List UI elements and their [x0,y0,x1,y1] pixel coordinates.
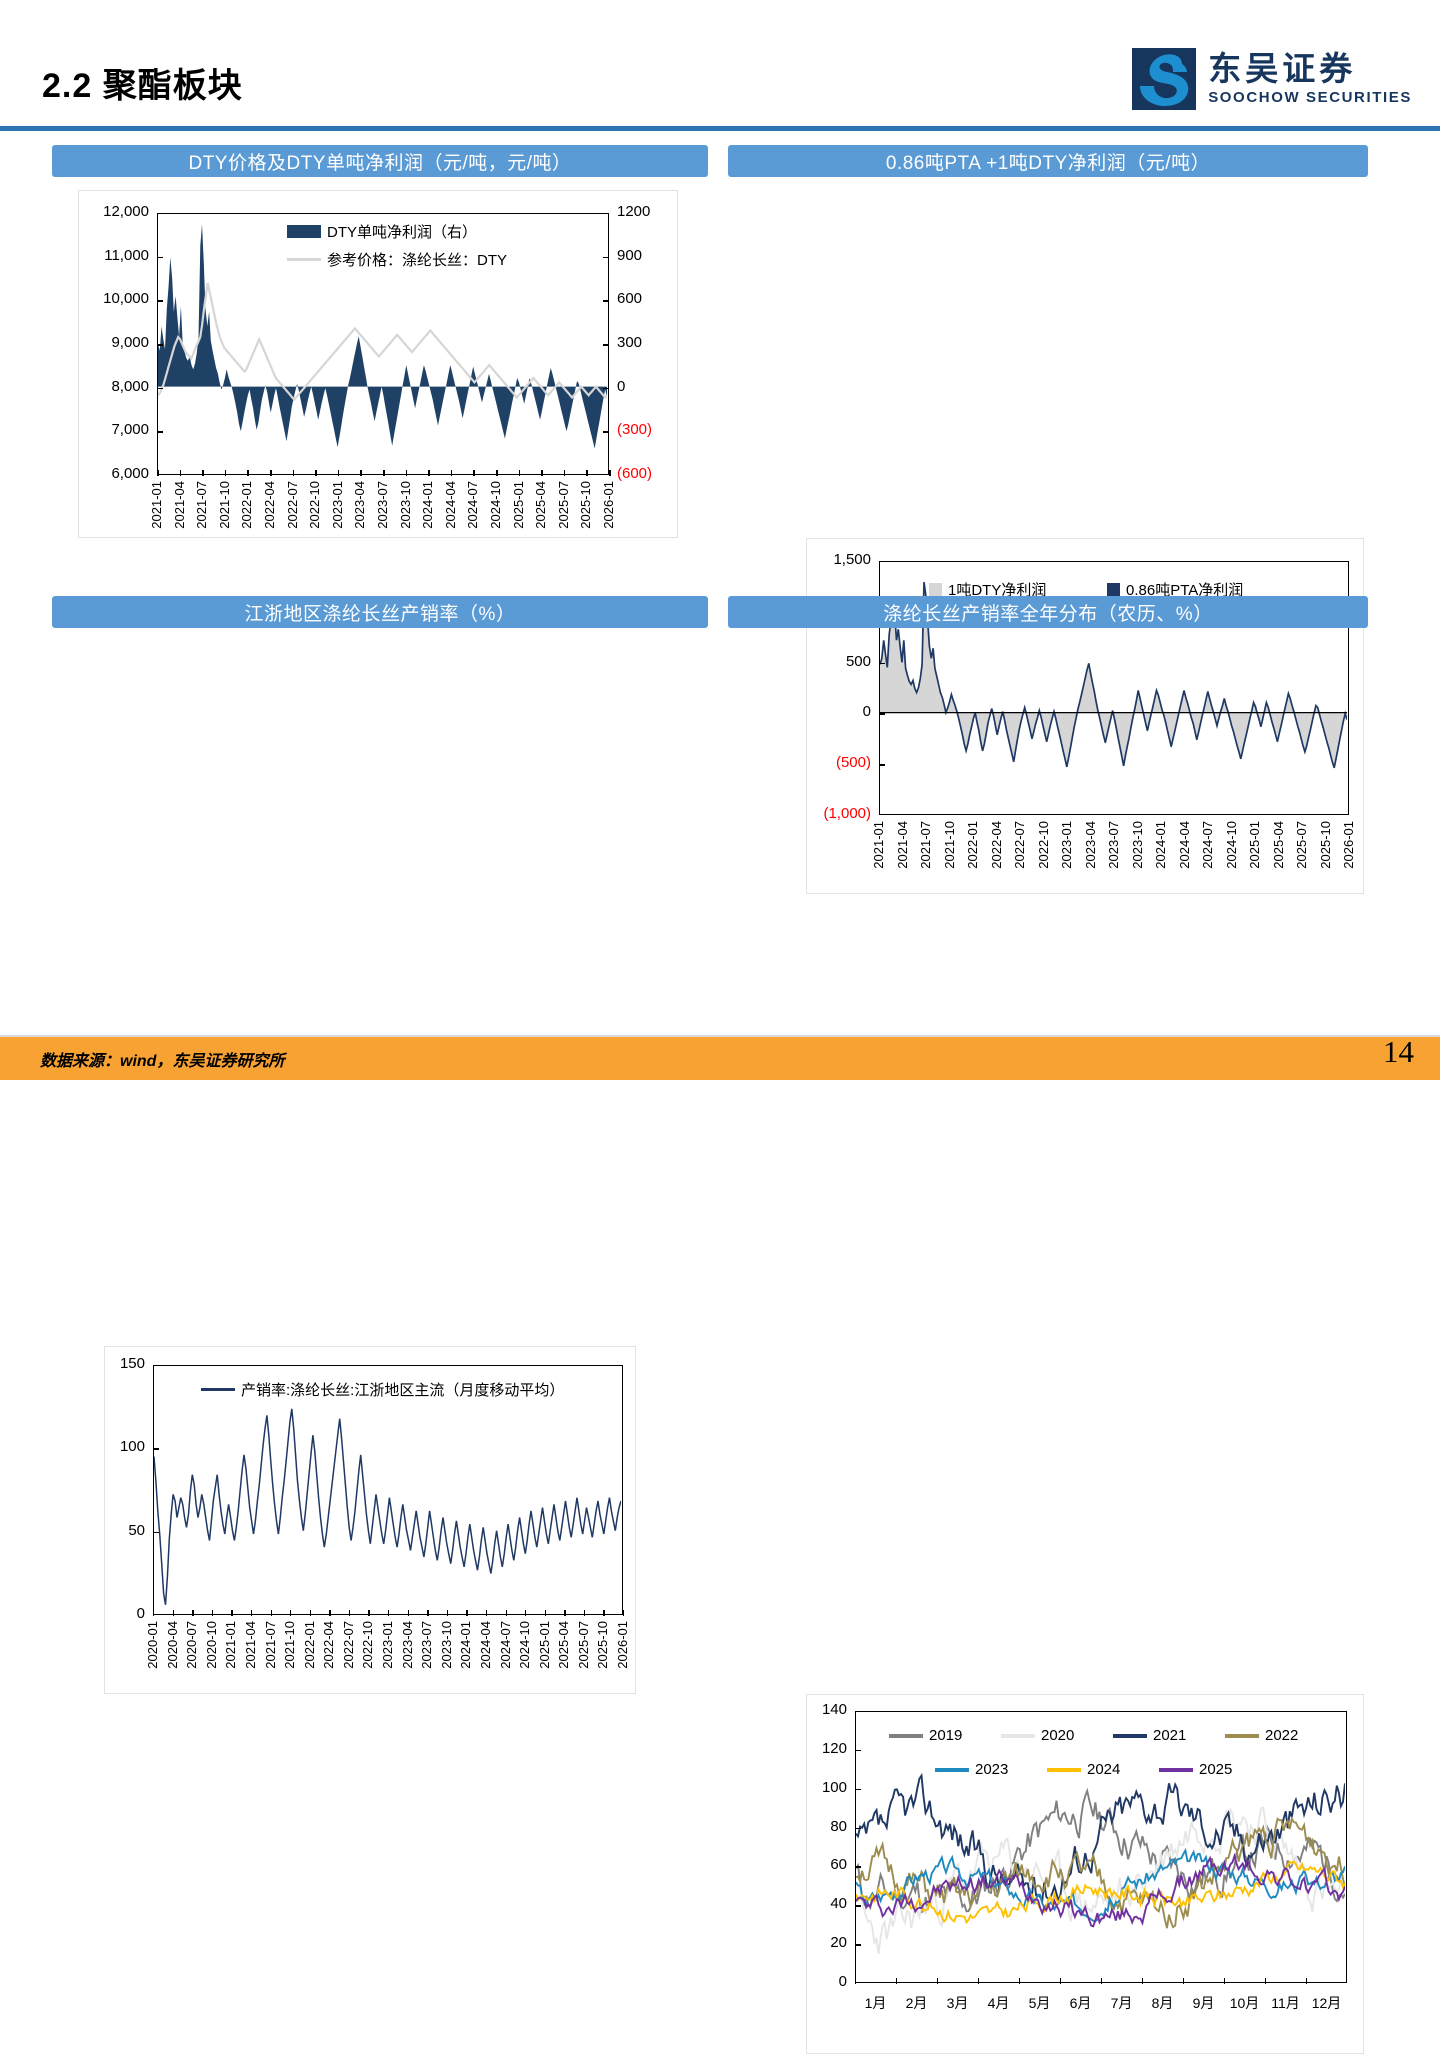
xtick-mark-9 [329,1610,330,1616]
chart-title-sales-rate-annual: 涤纶长丝产销率全年分布（农历、%） [728,596,1368,628]
ytick-5: 40 [807,1895,847,1912]
xtick-label-18: 2024-07 [498,1621,513,1669]
legend-year-2020: 2020 [1001,1727,1074,1744]
legend-swatch-2020 [1001,1734,1035,1738]
xtick-mark-12 [428,470,430,476]
xtick-label-12: 2023-01 [380,1621,395,1669]
legend-label-2023: 2023 [975,1761,1008,1778]
legend-label-2020: 2020 [1041,1727,1074,1744]
xtick-mark-15 [447,1610,448,1616]
xtick-label-14: 2024-07 [1200,821,1215,869]
xtick-mark-4 [247,470,249,476]
xtick-label-6: 2022-07 [285,481,300,529]
xtick-mark-14 [427,1610,428,1616]
xtick-mark-1 [173,1610,174,1616]
xtick-mark-6 [1101,1978,1102,1984]
xtick-mark-2 [937,1978,938,1984]
ytick-mark-left-5 [157,431,163,433]
ytick-0: 1,500 [807,551,871,568]
ytick-7: 0 [807,1973,847,1990]
xtick-label-16: 2024-01 [458,1621,473,1669]
xtick-mark-3 [212,1610,213,1616]
ytick-left-4: 8,000 [79,378,149,395]
plot-area-annual [855,1711,1347,1983]
xtick-label-1: 2020-04 [165,1621,180,1669]
ytick-2: 100 [807,1779,847,1796]
header-divider [0,126,1440,131]
xtick-mark-18 [564,470,566,476]
xtick-label-7: 2022-10 [307,481,322,529]
legend-year-2022: 2022 [1225,1727,1298,1744]
xtick-label-7: 2021-10 [282,1621,297,1669]
xtick-label-7: 8月 [1143,1993,1183,2013]
xtick-mark-10 [349,1610,350,1616]
xtick-label-6: 2022-07 [1012,821,1027,869]
panel-sales-rate-annual: 涤纶长丝产销率全年分布（农历、%） [728,596,1368,628]
xtick-label-3: 2020-10 [204,1621,219,1669]
ytick-mark-2 [855,1789,861,1791]
xtick-label-1: 2021-04 [895,821,910,869]
xtick-label-6: 2021-07 [263,1621,278,1669]
xtick-label-12: 2024-01 [420,481,435,529]
xtick-label-23: 2025-10 [595,1621,610,1669]
xtick-label-0: 2020-01 [145,1621,160,1669]
xtick-label-13: 2024-04 [443,481,458,529]
xtick-mark-4 [1019,1978,1020,1984]
xtick-mark-2 [202,470,204,476]
chart-title-pta-dty-profit: 0.86吨PTA +1吨DTY净利润（元/吨） [728,145,1368,177]
page-number: 14 [1383,1034,1414,1070]
xtick-mark-1 [896,1978,897,1984]
xtick-label-5: 6月 [1061,1993,1101,2013]
plot-area-jz [153,1365,623,1615]
legend-label-2022: 2022 [1265,1727,1298,1744]
xtick-label-5: 2022-04 [989,821,1004,869]
ytick-left-2: 10,000 [79,290,149,307]
ytick-mark-5 [855,1905,861,1907]
xtick-label-11: 2022-10 [360,1621,375,1669]
legend-swatch-2023 [935,1768,969,1772]
ytick-left-1: 11,000 [79,247,149,264]
xtick-mark-0 [157,470,159,476]
ytick-0: 140 [807,1701,847,1718]
legend-label-jz-sales-rate: 产销率:涤纶长丝:江浙地区主流（月度移动平均） [241,1379,564,1400]
xtick-label-10: 2023-07 [1106,821,1121,869]
ytick-mark-4 [879,764,885,766]
xtick-label-15: 2024-10 [1224,821,1239,869]
xtick-label-16: 2025-01 [511,481,526,529]
ytick-right-4: 0 [617,378,677,395]
xtick-label-2: 2020-07 [184,1621,199,1669]
xtick-label-2: 2021-07 [194,481,209,529]
ytick-mark-1 [153,1448,159,1450]
ytick-6: 20 [807,1934,847,1951]
ytick-mark-left-2 [157,300,163,302]
xtick-label-14: 2024-07 [465,481,480,529]
ytick-mark-left-1 [157,257,163,259]
panel-pta-dty-profit: 0.86吨PTA +1吨DTY净利润（元/吨） [728,145,1368,177]
xtick-label-15: 2024-10 [488,481,503,529]
xtick-mark-3 [978,1978,979,1984]
xtick-label-3: 4月 [979,1993,1019,2013]
xtick-label-14: 2023-07 [419,1621,434,1669]
data-source-note: 数据来源：wind，东吴证券研究所 [40,1047,284,1071]
xtick-mark-9 [1224,1978,1225,1984]
legend-jz-sales-rate: 产销率:涤纶长丝:江浙地区主流（月度移动平均） [201,1379,564,1400]
ytick-right-3: 300 [617,334,677,351]
xtick-label-22: 2025-07 [576,1621,591,1669]
legend-label-2025: 2025 [1199,1761,1232,1778]
ytick-left-5: 7,000 [79,421,149,438]
ytick-right-0: 1200 [617,203,677,220]
ytick-left-6: 6,000 [79,465,149,482]
xtick-label-17: 2025-04 [1271,821,1286,869]
ytick-mark-4 [855,1866,861,1868]
xtick-label-1: 2021-04 [172,481,187,529]
ytick-4: 60 [807,1856,847,1873]
xtick-label-0: 2021-01 [871,821,886,869]
legend-label-dty-price: 参考价格：涤纶长丝：DTY [327,249,507,270]
panel-dty-price-profit: DTY价格及DTY单吨净利润（元/吨，元/吨） [52,145,708,177]
xtick-label-8: 2023-01 [1059,821,1074,869]
xtick-label-4: 5月 [1020,1993,1060,2013]
legend-swatch-dty-net-profit [929,583,942,596]
xtick-mark-6 [293,470,295,476]
legend-label-2021: 2021 [1153,1727,1186,1744]
xtick-label-4: 2021-01 [223,1621,238,1669]
logo-english-name: SOOCHOW SECURITIES [1208,89,1412,106]
ytick-4: (500) [807,754,871,771]
xtick-label-8: 2022-01 [302,1621,317,1669]
xtick-label-17: 2025-04 [533,481,548,529]
legend-swatch-pta-net-profit [1107,583,1120,596]
xtick-mark-8 [310,1610,311,1616]
legend-year-2019: 2019 [889,1727,962,1744]
xtick-label-8: 9月 [1184,1993,1224,2013]
ytick-mark-left-4 [157,388,163,390]
chart-title-jz-sales-rate: 江浙地区涤纶长丝产销率（%） [52,596,708,628]
ytick-mark-2 [879,663,885,665]
xtick-mark-8 [338,470,340,476]
xtick-mark-0 [855,1978,856,1984]
ytick-mark-3 [855,1828,861,1830]
xtick-label-10: 2023-07 [375,481,390,529]
legend-label-2019: 2019 [929,1727,962,1744]
xtick-label-13: 2023-04 [400,1621,415,1669]
legend-label-dty-profit: DTY单吨净利润（右） [327,221,477,242]
ytick-1: 120 [807,1740,847,1757]
chart-jz-sales-rate: 1501005002020-012020-042020-072020-10202… [104,1346,636,1694]
ytick-right-1: 900 [617,247,677,264]
chart-dty-price-profit: 12,00011,00010,0009,0008,0007,0006,00012… [78,190,678,538]
xtick-mark-4 [231,1610,232,1616]
ytick-3: 0 [105,1605,145,1622]
xtick-label-10: 2022-07 [341,1621,356,1669]
chart-sales-rate-annual: 1401201008060402001月2月3月4月5月6月7月8月9月10月1… [806,1694,1364,2054]
legend-label-2024: 2024 [1087,1761,1120,1778]
xtick-mark-7 [290,1610,291,1616]
xtick-label-3: 2021-10 [217,481,232,529]
xtick-label-18: 2025-07 [556,481,571,529]
xtick-label-9: 2023-04 [1083,821,1098,869]
legend-swatch-2019 [889,1734,923,1738]
xtick-mark-5 [251,1610,252,1616]
xtick-label-20: 2026-01 [1341,821,1356,869]
xtick-label-18: 2025-07 [1294,821,1309,869]
soochow-logo-mark [1132,48,1196,110]
xtick-label-5: 2021-04 [243,1621,258,1669]
legend-swatch-2025 [1159,1768,1193,1772]
legend-year-2021: 2021 [1113,1727,1186,1744]
xtick-mark-19 [525,1610,526,1616]
xtick-label-11: 2023-10 [1130,821,1145,869]
xtick-mark-20 [609,470,611,476]
xtick-mark-1 [180,470,182,476]
ytick-mark-left-3 [157,344,163,346]
xtick-mark-11 [368,1610,369,1616]
xtick-label-19: 2025-10 [1318,821,1333,869]
ytick-left-0: 12,000 [79,203,149,220]
xtick-label-21: 2025-04 [556,1621,571,1669]
xtick-mark-12 [388,1610,389,1616]
ytick-right-5: (300) [617,421,677,438]
ytick-1: 100 [105,1438,145,1455]
chart-title-dty-price-profit: DTY价格及DTY单吨净利润（元/吨，元/吨） [52,145,708,177]
legend-dty-profit: DTY单吨净利润（右） [287,221,477,242]
xtick-label-9: 2022-04 [321,1621,336,1669]
xtick-label-20: 2026-01 [601,481,616,529]
xtick-label-13: 2024-04 [1177,821,1192,869]
xtick-mark-10 [383,470,385,476]
legend-swatch-dty-profit [287,225,321,238]
xtick-label-11: 12月 [1307,1993,1347,2013]
xtick-label-4: 2022-01 [239,481,254,529]
chart-pta-dty-profit: 1,5001,0005000(500)(1,000)2021-012021-04… [806,538,1364,894]
xtick-label-24: 2026-01 [615,1621,630,1669]
xtick-mark-5 [1060,1978,1061,1984]
xtick-label-6: 7月 [1102,1993,1142,2013]
ytick-right-6: (600) [617,465,677,482]
ytick-right-2: 600 [617,290,677,307]
xtick-mark-17 [486,1610,487,1616]
xtick-label-16: 2025-01 [1247,821,1262,869]
ytick-3: 0 [807,703,871,720]
xtick-mark-3 [225,470,227,476]
xtick-label-7: 2022-10 [1036,821,1051,869]
xtick-label-2: 3月 [938,1993,978,2013]
xtick-label-19: 2025-10 [578,481,593,529]
xtick-mark-13 [408,1610,409,1616]
xtick-mark-7 [1142,1978,1143,1984]
ytick-mark-2 [153,1532,159,1534]
xtick-mark-8 [1183,1978,1184,1984]
xtick-label-0: 1月 [856,1993,896,2013]
xtick-label-11: 2023-10 [398,481,413,529]
xtick-label-8: 2023-01 [330,481,345,529]
ytick-mark-3 [879,713,885,715]
ytick-left-3: 9,000 [79,334,149,351]
xtick-label-2: 2021-07 [918,821,933,869]
xtick-mark-2 [192,1610,193,1616]
xtick-label-17: 2024-04 [478,1621,493,1669]
ytick-mark-6 [855,1944,861,1946]
panel-jz-sales-rate: 江浙地区涤纶长丝产销率（%） [52,596,708,628]
xtick-mark-24 [623,1610,624,1616]
legend-swatch-2021 [1113,1734,1147,1738]
page-title: 2.2 聚酯板块 [42,58,243,107]
legend-year-2023: 2023 [935,1761,1008,1778]
xtick-mark-5 [270,470,272,476]
ytick-mark-right-5 [603,431,609,433]
ytick-5: (1,000) [807,805,871,822]
xtick-mark-11 [1306,1978,1307,1984]
xtick-mark-11 [406,470,408,476]
xtick-mark-20 [545,1610,546,1616]
xtick-label-1: 2月 [897,1993,937,2013]
xtick-mark-10 [1265,1978,1266,1984]
logo-chinese-name: 东吴证券 [1208,52,1356,87]
xtick-label-20: 2025-01 [537,1621,552,1669]
xtick-mark-23 [603,1610,604,1616]
legend-swatch-2022 [1225,1734,1259,1738]
xtick-mark-19 [586,470,588,476]
ytick-mark-right-1 [603,257,609,259]
xtick-label-3: 2021-10 [942,821,957,869]
xtick-mark-6 [271,1610,272,1616]
xtick-mark-15 [496,470,498,476]
xtick-mark-14 [473,470,475,476]
xtick-label-19: 2024-10 [517,1621,532,1669]
xtick-label-5: 2022-04 [262,481,277,529]
legend-dty-price: 参考价格：涤纶长丝：DTY [287,249,507,270]
ytick-mark-right-3 [603,344,609,346]
ytick-mark-1 [855,1750,861,1752]
xtick-mark-22 [584,1610,585,1616]
ytick-mark-right-2 [603,300,609,302]
legend-year-2024: 2024 [1047,1761,1120,1778]
xtick-label-12: 2024-01 [1153,821,1168,869]
ytick-3: 80 [807,1818,847,1835]
xtick-mark-16 [519,470,521,476]
xtick-label-10: 11月 [1266,1993,1306,2013]
legend-swatch-dty-price [287,258,321,261]
legend-year-2025: 2025 [1159,1761,1232,1778]
legend-swatch-2024 [1047,1768,1081,1772]
xtick-mark-16 [466,1610,467,1616]
legend-swatch-jz-sales-rate [201,1388,235,1391]
ytick-mark-right-4 [603,388,609,390]
xtick-mark-21 [564,1610,565,1616]
xtick-label-15: 2023-10 [439,1621,454,1669]
xtick-label-9: 10月 [1225,1993,1265,2013]
xtick-mark-13 [451,470,453,476]
xtick-mark-9 [360,470,362,476]
xtick-mark-0 [153,1610,154,1616]
xtick-mark-7 [315,470,317,476]
xtick-mark-18 [506,1610,507,1616]
xtick-label-0: 2021-01 [149,481,164,529]
xtick-label-9: 2023-04 [352,481,367,529]
ytick-0: 150 [105,1355,145,1372]
xtick-mark-17 [541,470,543,476]
company-logo: 东吴证券 SOOCHOW SECURITIES [1132,48,1412,110]
ytick-2: 500 [807,653,871,670]
ytick-2: 50 [105,1522,145,1539]
xtick-label-4: 2022-01 [965,821,980,869]
